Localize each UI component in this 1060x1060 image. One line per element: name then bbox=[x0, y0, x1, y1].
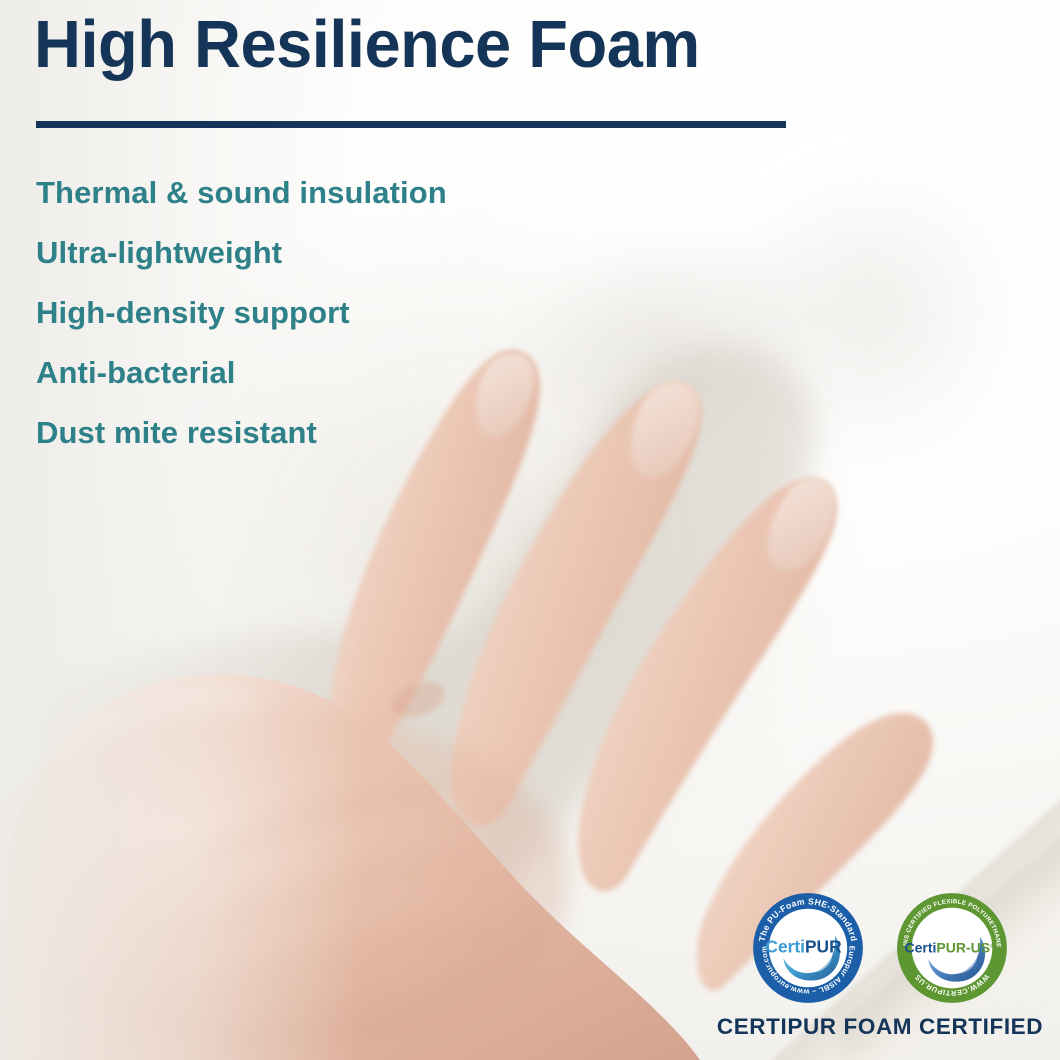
badge-center-text-a: Certi bbox=[765, 936, 805, 956]
svg-text:CertiPUR: CertiPUR bbox=[765, 936, 842, 956]
feature-item: Thermal & sound insulation bbox=[36, 163, 447, 223]
feature-item: Dust mite resistant bbox=[36, 403, 447, 463]
badge-center-text-b: PUR-US bbox=[936, 939, 990, 955]
page-title: High Resilience Foam bbox=[34, 10, 700, 80]
svg-text:CertiPUR-US®: CertiPUR-US® bbox=[904, 939, 995, 955]
title-divider-rule bbox=[36, 121, 786, 128]
certification-badge-row: The PU-Foam SHE-Standard Europur AISBL –… bbox=[715, 888, 1045, 1008]
feature-list: Thermal & sound insulation Ultra-lightwe… bbox=[36, 163, 447, 463]
badge-center-superscript: ® bbox=[990, 942, 995, 950]
certification-block: The PU-Foam SHE-Standard Europur AISBL –… bbox=[715, 888, 1045, 1040]
feature-item: High-density support bbox=[36, 283, 447, 343]
feature-item: Ultra-lightweight bbox=[36, 223, 447, 283]
product-feature-poster: High Resilience Foam Thermal & sound ins… bbox=[0, 0, 1060, 1060]
feature-item: Anti-bacterial bbox=[36, 343, 447, 403]
certipur-us-badge: CONTAINS CERTIFIED FLEXIBLE POLYURETHANE… bbox=[896, 892, 1008, 1004]
certipur-eu-badge: The PU-Foam SHE-Standard Europur AISBL –… bbox=[752, 892, 864, 1004]
badge-center-text-a: Certi bbox=[904, 939, 936, 955]
left-text-scrim bbox=[0, 0, 360, 1060]
certification-caption: CERTIPUR FOAM CERTIFIED bbox=[715, 1014, 1045, 1040]
badge-center-text-b: PUR bbox=[805, 936, 842, 956]
